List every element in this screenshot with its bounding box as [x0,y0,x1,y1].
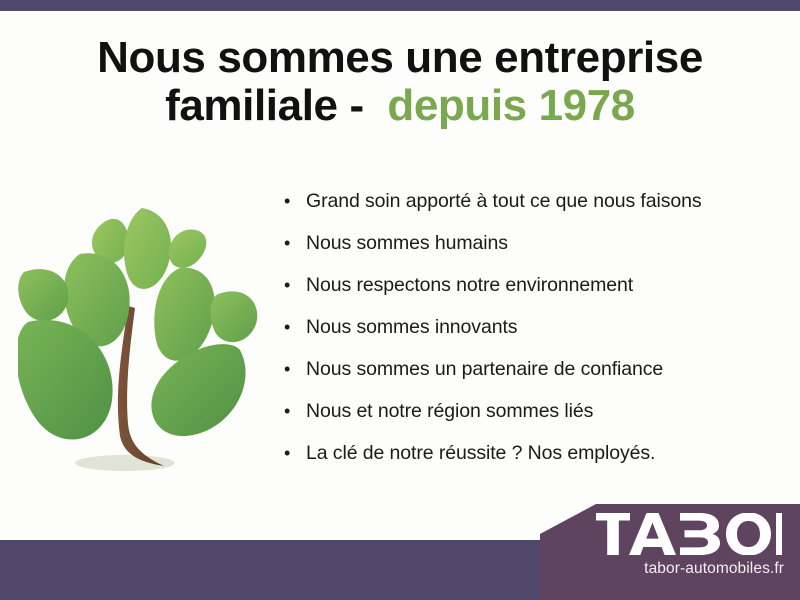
list-item: • Grand soin apporté à tout ce que nous … [284,190,784,232]
list-item: • La clé de notre réussite ? Nos employé… [284,442,784,484]
title-line-2-plain: familiale [165,81,338,130]
list-item: • Nous sommes humains [284,232,784,274]
tree-shadow [75,455,175,471]
brand-tagline: tabor-automobiles.fr [540,560,800,578]
top-accent-band [0,0,800,11]
bullet-icon: • [284,444,306,462]
list-item-label: Nous respectons notre environnement [306,274,633,297]
bullet-icon: • [284,234,306,252]
title-line-2: familiale - depuis 1978 [0,82,800,130]
bullet-icon: • [284,360,306,378]
list-item: • Nous respectons notre environnement [284,274,784,316]
title-separator: - [349,81,363,130]
value-list: • Grand soin apporté à tout ce que nous … [284,190,784,484]
list-item: • Nous et notre région sommes liés [284,400,784,442]
list-item-label: La clé de notre réussite ? Nos employés. [306,442,655,465]
title-accent-text: depuis 1978 [387,81,635,130]
bullet-icon: • [284,192,306,210]
list-item: • Nous sommes innovants [284,316,784,358]
slide-root: Nous sommes une entreprise familiale - d… [0,0,800,600]
list-item-label: Nous sommes humains [306,232,508,255]
tree-leaves [18,208,257,440]
list-item-label: Nous et notre région sommes liés [306,400,593,423]
list-item-label: Nous sommes un partenaire de confiance [306,358,663,381]
list-item: • Nous sommes un partenaire de confiance [284,358,784,400]
bullet-icon: • [284,276,306,294]
bullet-icon: • [284,318,306,336]
page-title: Nous sommes une entreprise familiale - d… [0,34,800,129]
list-item-label: Grand soin apporté à tout ce que nous fa… [306,190,702,213]
bullet-icon: • [284,402,306,420]
title-line-1: Nous sommes une entreprise [0,34,800,82]
brand-logo-panel: tabor-automobiles.fr [540,504,800,600]
list-item-label: Nous sommes innovants [306,316,517,339]
tabor-wordmark [596,513,782,555]
tree-illustration [18,186,268,486]
